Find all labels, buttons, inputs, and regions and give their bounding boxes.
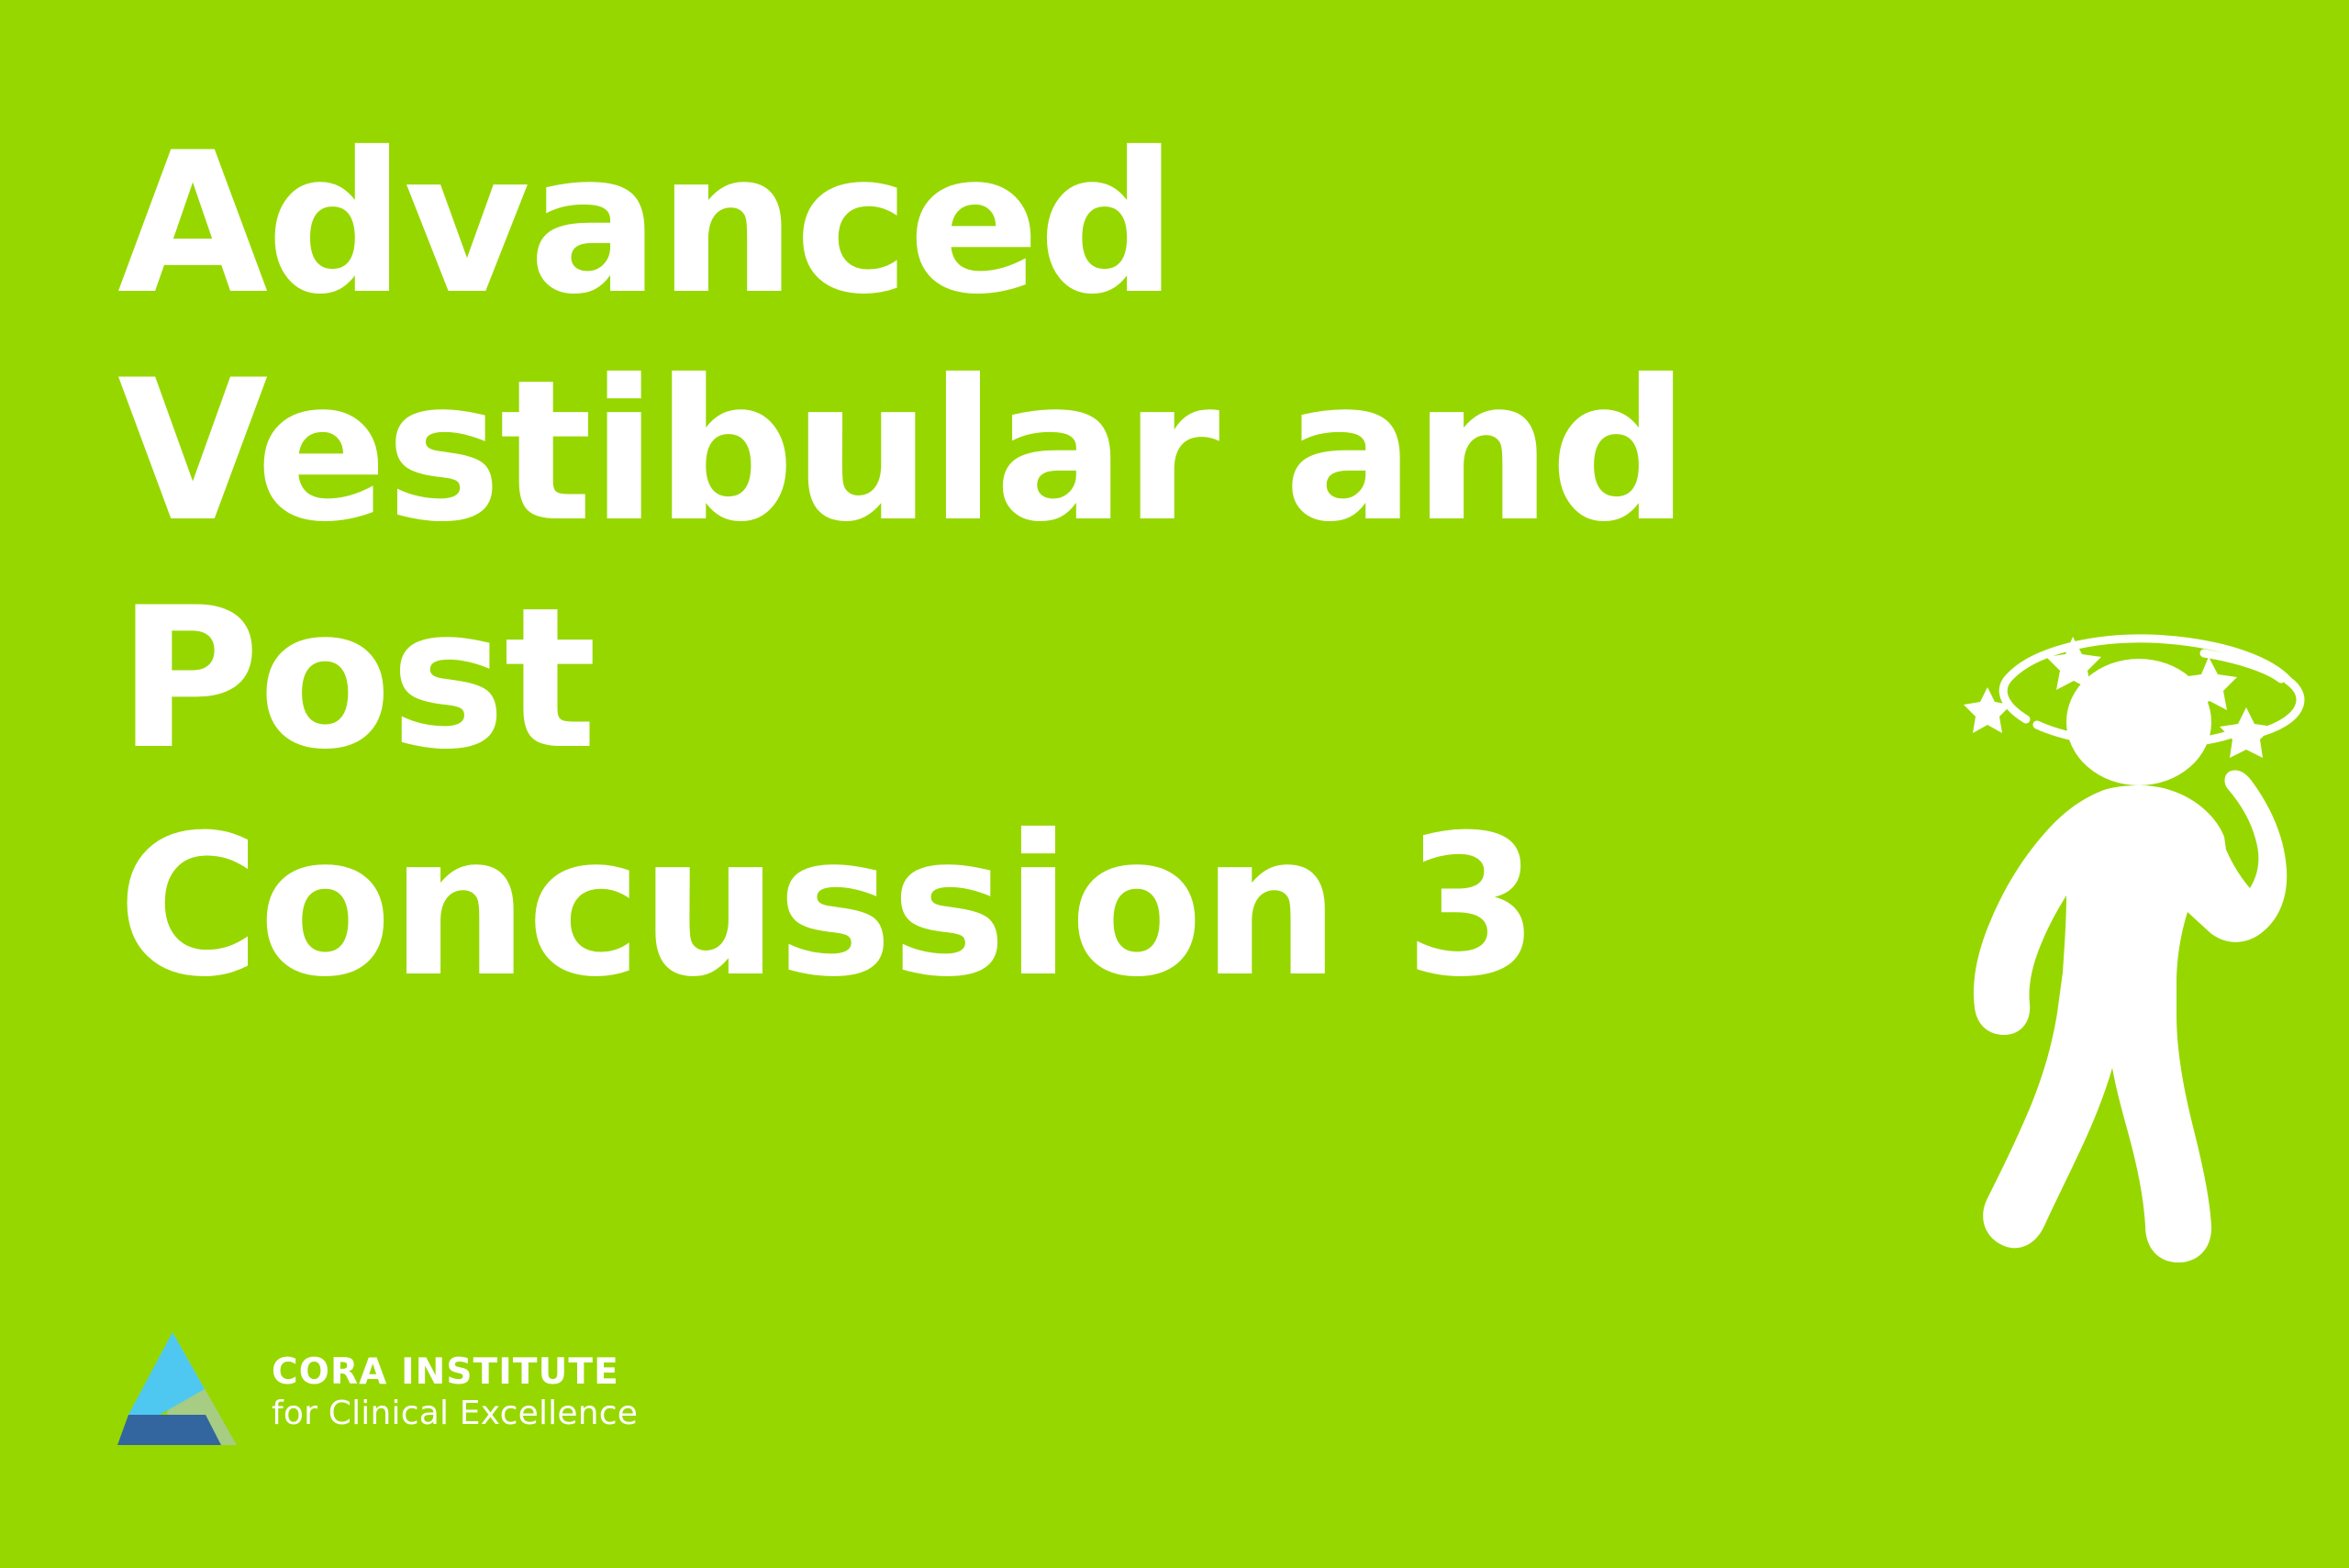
title-line-4: Concussion 3 (117, 793, 1962, 1020)
logo-tagline: for Clinical Excellence (272, 1394, 638, 1434)
slide-canvas: Advanced Vestibular and Post Concussion … (0, 0, 2349, 1568)
logo-wordmark: CORA INSTITUTE for Clinical Excellence (272, 1351, 638, 1434)
page-title: Advanced Vestibular and Post Concussion … (117, 110, 1962, 1020)
logo-name: CORA INSTITUTE (272, 1351, 638, 1394)
dizzy-person-icon (1951, 620, 2349, 1284)
title-line-1: Advanced (117, 110, 1962, 338)
logo-lockup: CORA INSTITUTE for Clinical Excellence (117, 1332, 638, 1453)
title-line-2: Vestibular and (117, 338, 1962, 565)
title-line-3: Post (117, 565, 1962, 793)
triangle-logo-icon (117, 1332, 248, 1453)
